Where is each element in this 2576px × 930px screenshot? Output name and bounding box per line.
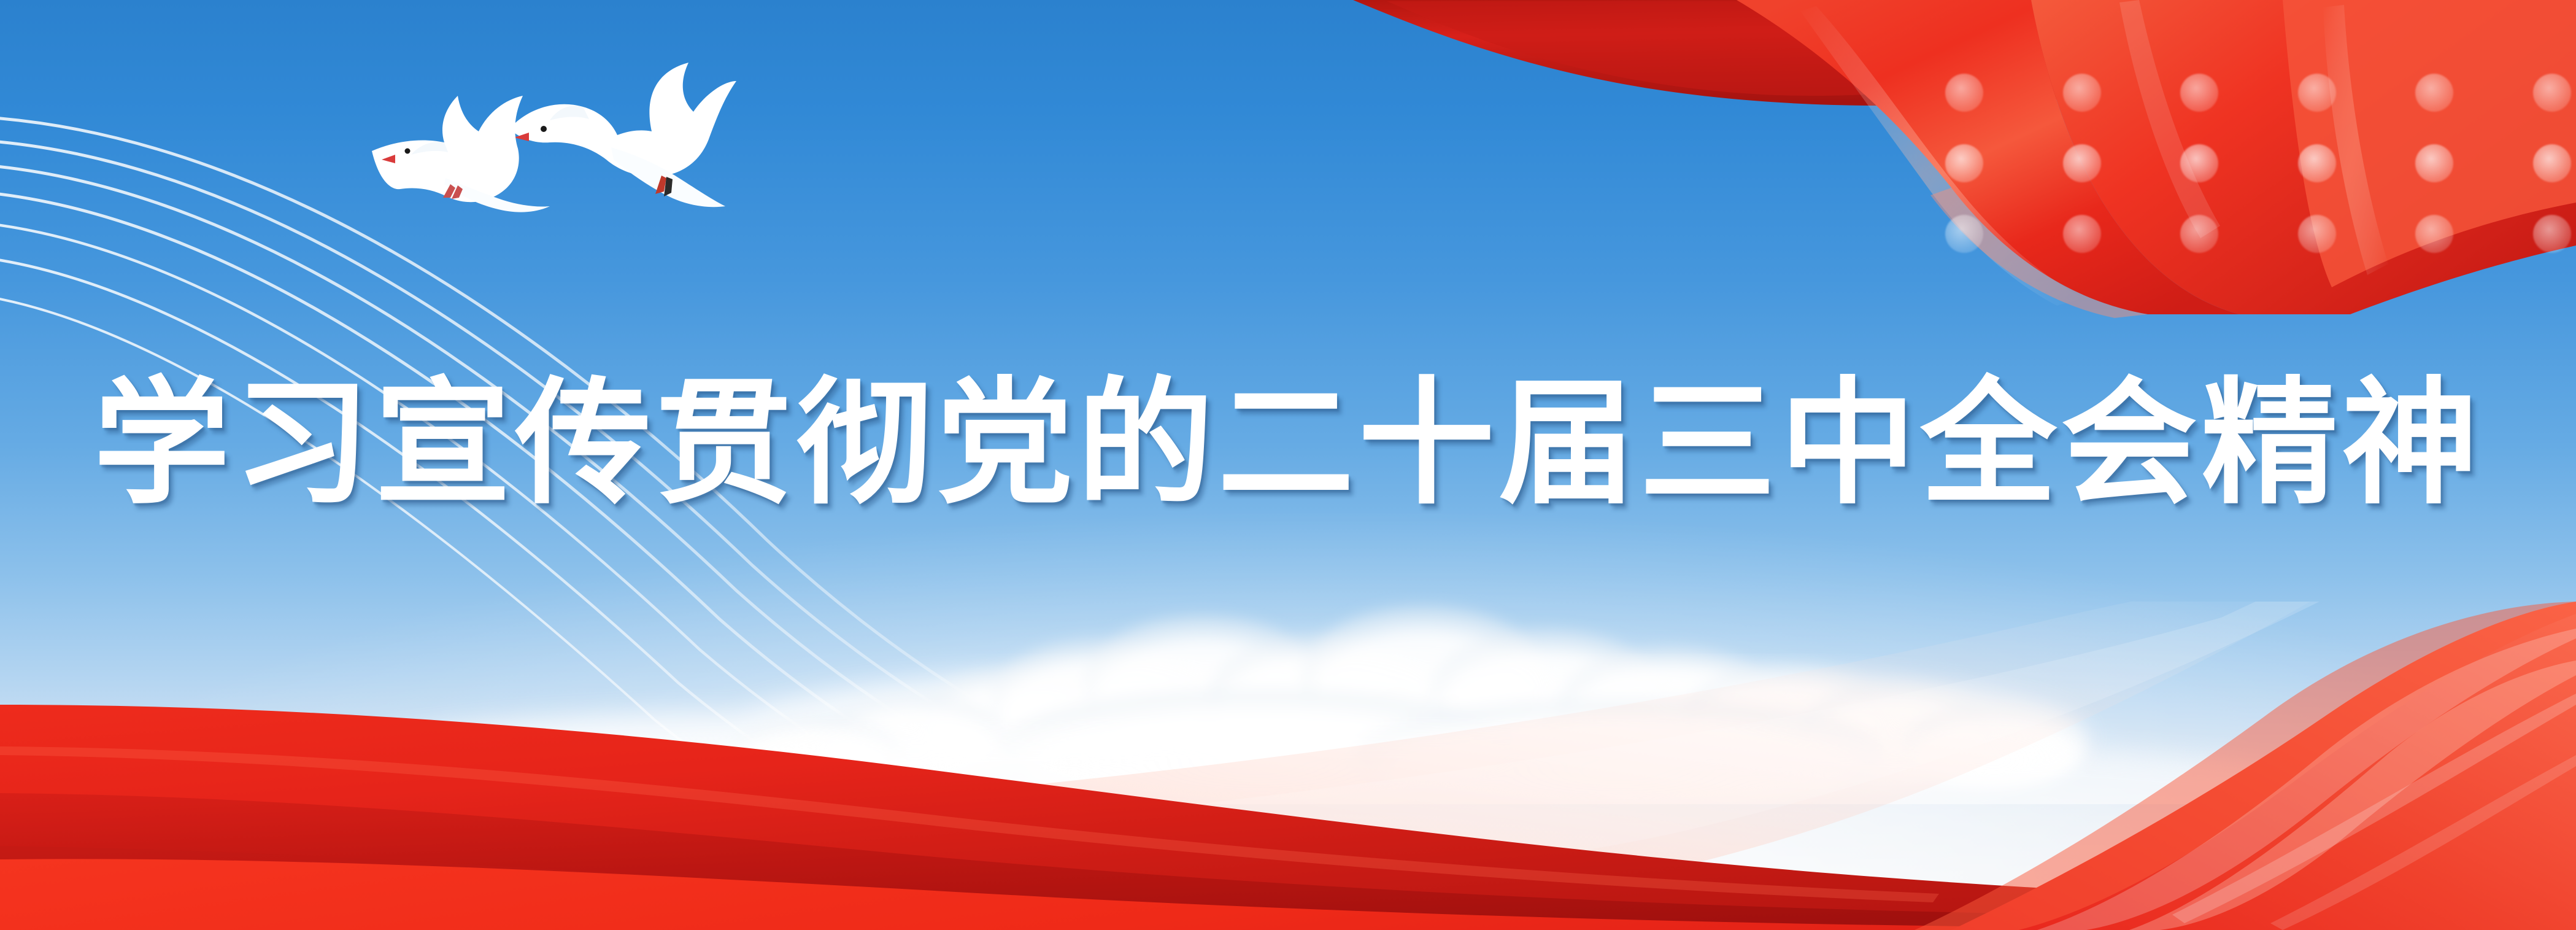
red-silk-wave-bottom: [0, 602, 2576, 930]
red-silk-ribbon-top: [0, 0, 2576, 319]
propaganda-banner: 学习宣传贯彻党的二十届三中全会精神: [0, 0, 2576, 930]
